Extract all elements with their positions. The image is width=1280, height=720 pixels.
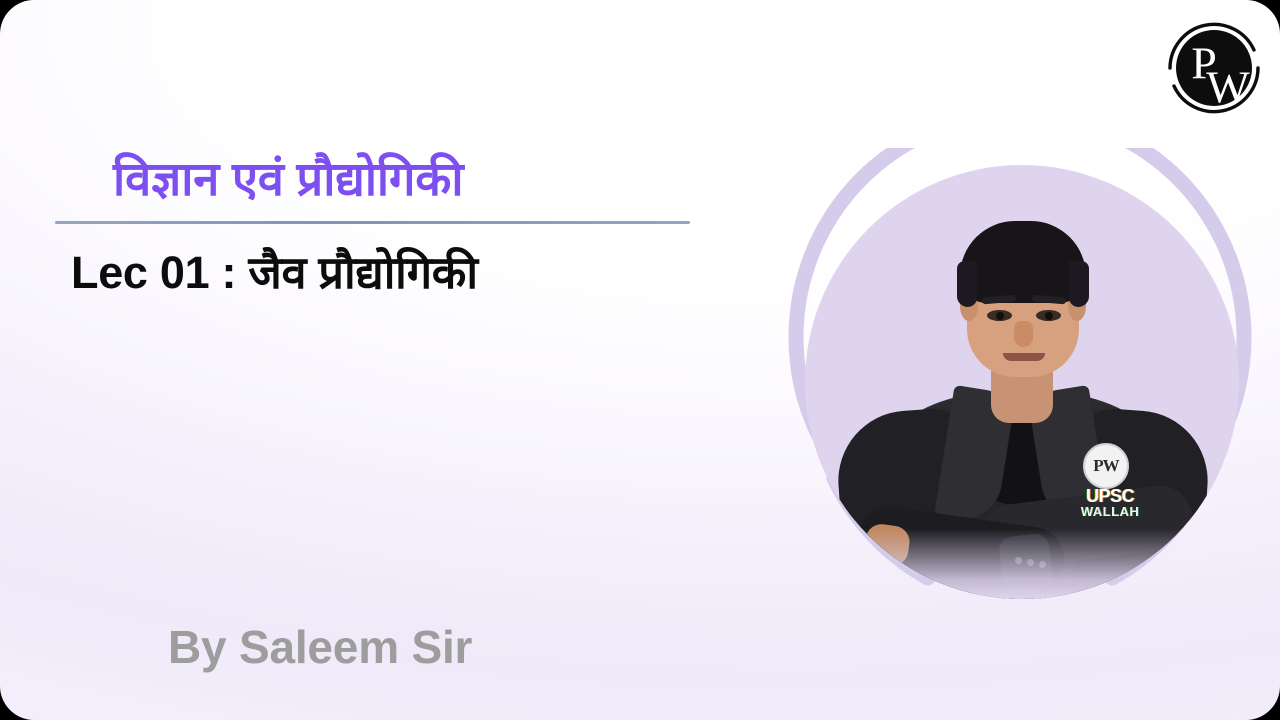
blazer-chest-badge: PW UPSC WALLAH [1067, 443, 1153, 525]
presenter-byline: By Saleem Sir [168, 624, 472, 670]
hair-sideburn-left [957, 261, 977, 307]
pupil-right [1045, 312, 1053, 320]
course-title: विज्ञान एवं प्रौद्योगिकी [55, 150, 755, 207]
pupil-left [996, 312, 1004, 320]
svg-text:W: W [1206, 62, 1250, 113]
nose [1014, 321, 1033, 347]
instructor-portrait-badge: PW UPSC WALLAH [788, 148, 1252, 618]
hair [960, 221, 1086, 303]
blazer-pw-icon: PW [1083, 443, 1129, 489]
portrait-bottom-fade [805, 529, 1239, 599]
lecture-title-slide: P W विज्ञान एवं प्रौद्योगिकी Lec 01 : जै… [0, 0, 1280, 720]
hair-sideburn-right [1069, 261, 1089, 307]
pw-logo: P W [1160, 12, 1268, 124]
blazer-badge-line-1: UPSC [1067, 487, 1153, 505]
title-block: विज्ञान एवं प्रौद्योगिकी Lec 01 : जैव प्… [55, 150, 755, 300]
lecture-title: Lec 01 : जैव प्रौद्योगिकी [55, 246, 755, 300]
title-divider [55, 221, 690, 224]
mouth [1003, 353, 1045, 361]
instructor-photo: PW UPSC WALLAH [805, 165, 1239, 599]
blazer-badge-line-2: WALLAH [1067, 505, 1153, 518]
